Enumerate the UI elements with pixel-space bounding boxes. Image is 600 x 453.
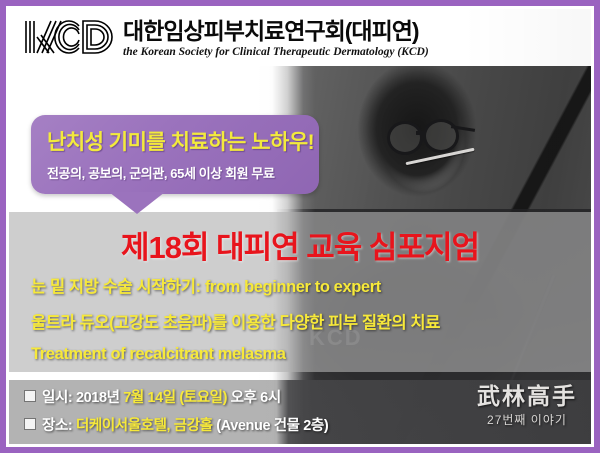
square-bullet-icon: [25, 391, 35, 401]
header-row: 대한임상피부치료연구회(대피연) the Korean Society for …: [21, 15, 591, 64]
date-year: 2018년: [76, 390, 120, 406]
glasses-left-lens-icon: [387, 121, 423, 155]
callout-tail: [109, 192, 165, 214]
date-highlight: 7월 14일 (토요일): [123, 390, 227, 406]
event-venue-line: 장소: 더케이서울호텔, 금강홀 (Avenue 건물 2층): [25, 414, 465, 435]
session-list: 눈 밑 지방 수술 시작하기: from beginner to expert …: [31, 273, 583, 376]
glasses-right-lens-icon: [423, 119, 459, 153]
series-stamp-title: 武林高手: [477, 385, 577, 409]
org-name-korean: 대한임상피부치료연구회(대피연): [123, 18, 419, 44]
venue-highlight: 더케이서울호텔, 금강홀: [76, 418, 213, 434]
date-label: 일시:: [42, 390, 72, 406]
series-stamp-subtitle: 27번째 이야기: [477, 411, 577, 428]
org-name-english: the Korean Society for Clinical Therapeu…: [123, 46, 429, 58]
poster: 대한임상피부치료연구회(대피연) the Korean Society for …: [0, 0, 600, 453]
event-date-line: 일시: 2018년 7월 14일 (토요일) 오후 6시: [25, 386, 465, 407]
session-line: 울트라 듀오(고강도 초음파)를 이용한 다양한 피부 질환의 치료: [31, 309, 583, 333]
session-line: 눈 밑 지방 수술 시작하기: from beginner to expert: [31, 273, 583, 297]
poster-inner-frame: 대한임상피부치료연구회(대피연) the Korean Society for …: [6, 6, 594, 447]
venue-detail: (Avenue 건물 2층): [216, 418, 328, 434]
date-time: 오후 6시: [231, 390, 281, 406]
symposium-title: 제18회 대피연 교육 심포지엄: [9, 222, 591, 267]
venue-label: 장소:: [42, 418, 72, 434]
callout-title: 난치성 기미를 치료하는 노하우!: [47, 126, 305, 156]
square-bullet-icon: [25, 419, 35, 429]
header-bar: 대한임상피부치료연구회(대피연) the Korean Society for …: [9, 9, 591, 66]
session-line: Treatment of recalcitrant melasma: [31, 345, 583, 364]
kcd-logo-icon: [21, 15, 113, 64]
glasses-bridge-icon: [416, 131, 425, 135]
info-lines: 일시: 2018년 7월 14일 (토요일) 오후 6시 장소: 더케이서울호텔…: [25, 386, 465, 442]
org-name-block: 대한임상피부치료연구회(대피연) the Korean Society for …: [123, 20, 591, 59]
ghost-watermark: KCD: [309, 325, 363, 351]
callout-bubble: 난치성 기미를 치료하는 노하우! 전공의, 공보의, 군의관, 65세 이상 …: [31, 115, 319, 194]
callout-subtitle: 전공의, 공보의, 군의관, 65세 이상 회원 무료: [47, 163, 305, 182]
series-stamp: 武林高手 27번째 이야기: [477, 385, 577, 428]
